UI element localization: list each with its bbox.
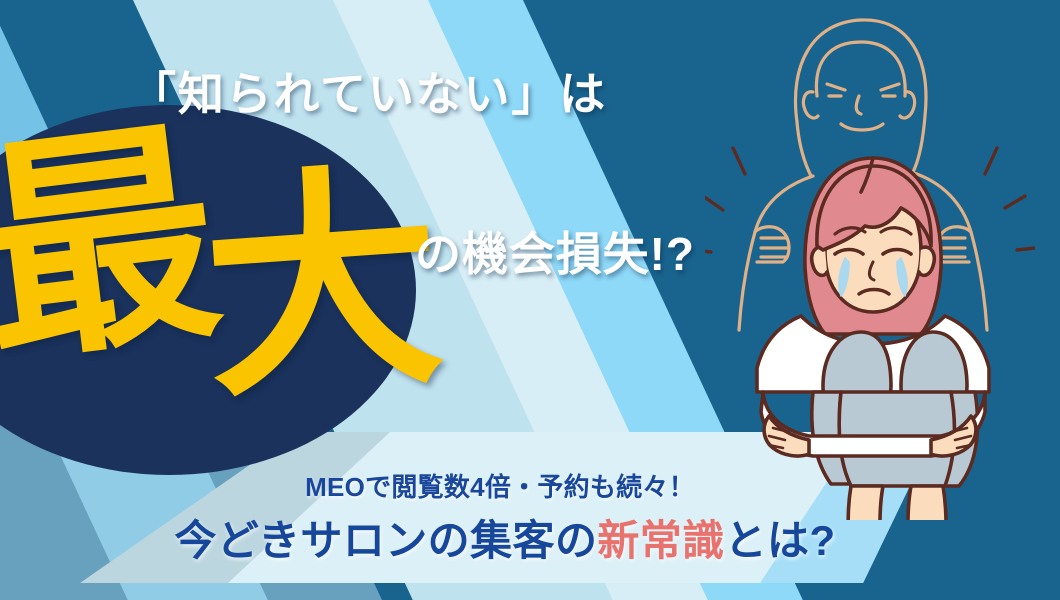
kicker-text: MEOで閲覧数4倍・予約も続々！: [0, 467, 1000, 504]
subheadline: の機会損失!?: [415, 218, 695, 284]
ear-right: [919, 247, 934, 275]
tagline-highlight: 新常識: [597, 517, 724, 564]
crying-person-figure: [757, 158, 989, 520]
tagline-post: とは?: [725, 517, 836, 564]
big-word-dai: 大: [198, 172, 448, 400]
headline: 「知られていない」は: [130, 58, 607, 124]
big-word-sai: 最: [0, 126, 228, 366]
tagline-pre: 今どきサロンの集客の: [174, 517, 597, 564]
ear-left: [812, 247, 827, 275]
tagline: 今どきサロンの集客の新常識とは?: [0, 507, 1010, 568]
illustration-crying-person: [705, 0, 1035, 520]
promo-banner: 「知られていない」は 最 大 の機会損失!?: [0, 0, 1060, 600]
